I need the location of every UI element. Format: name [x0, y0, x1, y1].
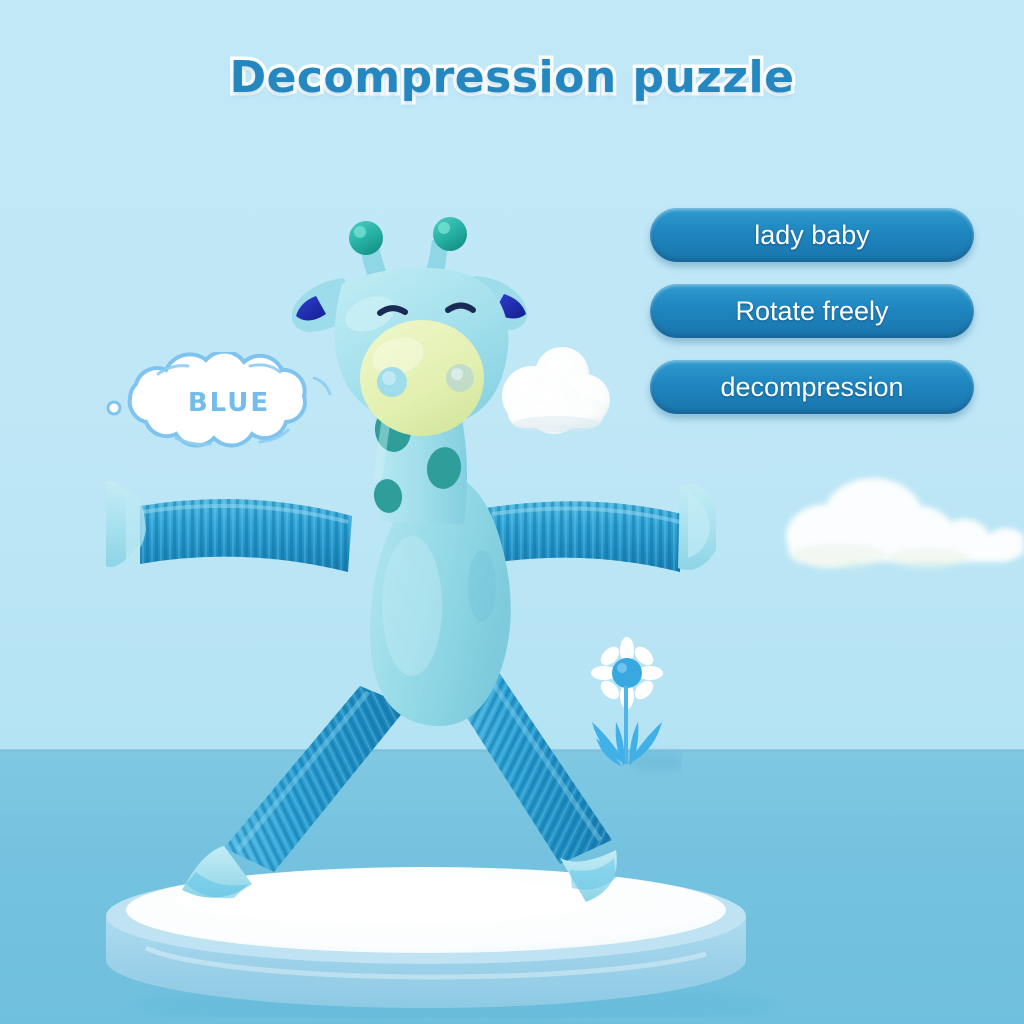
page-title-container: Decompression puzzle [0, 52, 1024, 103]
feature-badge-label: lady baby [754, 220, 870, 251]
left-arm-tube [140, 499, 352, 572]
right-arm-tube [486, 501, 682, 572]
giraffe-pop-tube-toy[interactable] [92, 186, 752, 931]
page-title: Decompression puzzle [230, 52, 795, 103]
giraffe-muzzle [360, 320, 484, 436]
giraffe-head [292, 217, 527, 436]
product-marketing-image: Decompression puzzle [0, 0, 1024, 1024]
right-suction-cup [678, 484, 716, 570]
feature-badge-label: Rotate freely [735, 296, 888, 327]
left-leg-tube [224, 686, 408, 872]
cloud-row-decoration [768, 468, 1024, 583]
